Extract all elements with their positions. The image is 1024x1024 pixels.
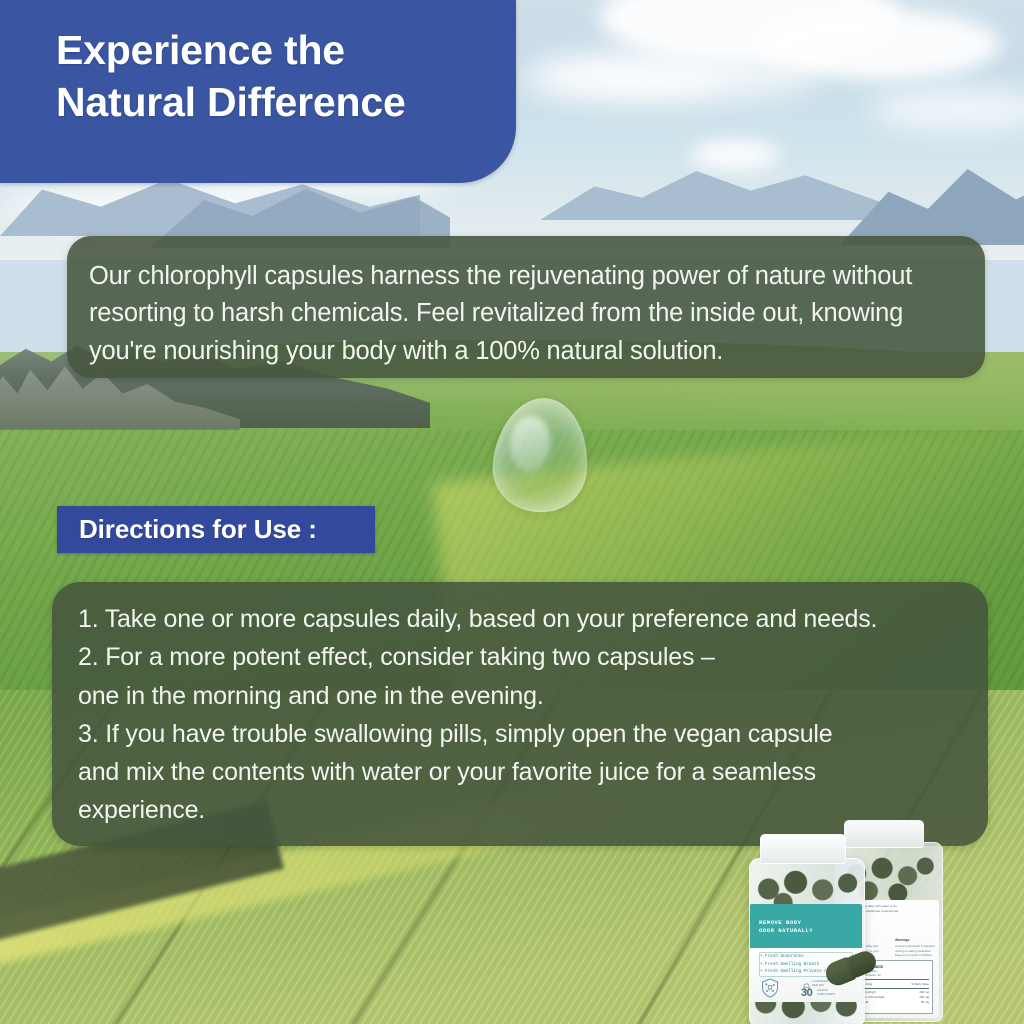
page-title: Experience the Natural Difference bbox=[56, 24, 496, 129]
bottle-front: REMOVE BODY ODOR NATURALLY Fresh Underar… bbox=[749, 834, 863, 1024]
intro-paragraph: Our chlorophyll capsules harness the rej… bbox=[89, 258, 959, 370]
bottle-back-warnings-title: Warnings bbox=[895, 938, 937, 942]
supplement-facts-row-amount: 50 mg bbox=[921, 1000, 929, 1005]
directions-steps-text: 1. Take one or more capsules daily, base… bbox=[78, 600, 964, 830]
directions-heading-label: Directions for Use : bbox=[57, 514, 317, 545]
product-bottles: Take one capsule daily with water or as … bbox=[735, 808, 1024, 1024]
directions-heading-badge: Directions for Use : bbox=[57, 506, 375, 553]
bottle-back-warnings-text: Consult a physician if pregnant, nursing… bbox=[895, 944, 937, 958]
intro-panel: Our chlorophyll capsules harness the rej… bbox=[67, 236, 985, 378]
directions-panel: 1. Take one or more capsules daily, base… bbox=[52, 582, 988, 846]
promotional-poster: Experience the Natural Difference Our ch… bbox=[0, 0, 1024, 1024]
header-banner: Experience the Natural Difference bbox=[0, 0, 516, 183]
cloud-icon bbox=[540, 60, 720, 95]
product-headline: REMOVE BODY ODOR NATURALLY bbox=[759, 919, 857, 936]
shield-molecule-icon bbox=[761, 978, 779, 998]
supplement-facts-dv-header: % Daily Value bbox=[911, 982, 929, 987]
bottle-front-label: REMOVE BODY ODOR NATURALLY Fresh Underar… bbox=[750, 904, 862, 1002]
bottle-back-warnings-col: Warnings Consult a physician if pregnant… bbox=[895, 938, 937, 958]
capsule-count: 30 bbox=[801, 987, 812, 999]
dosage-note: 1 CAPSULE PER DAY bbox=[812, 979, 828, 988]
bottle-front-cap bbox=[760, 834, 846, 864]
capsule-count-sublabel: DIETARY SUPPLEMENT bbox=[817, 989, 835, 997]
